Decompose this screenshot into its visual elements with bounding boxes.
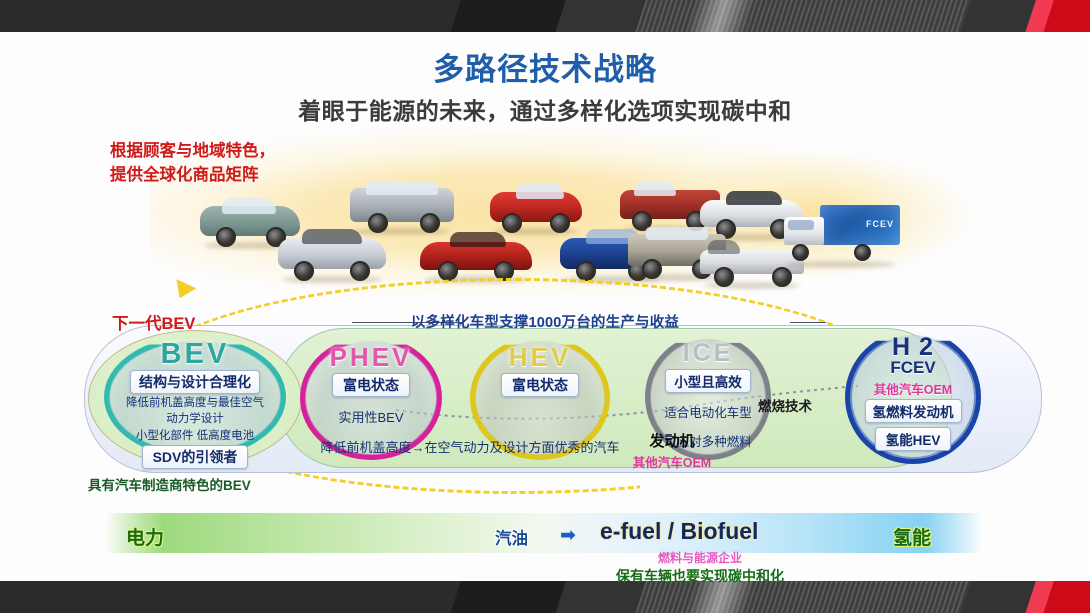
- vehicle-crown-red: [420, 230, 532, 276]
- vehicle-cabin: [450, 232, 506, 247]
- vehicle-shadow: [704, 282, 800, 289]
- energy-spectrum-bar: [104, 513, 984, 553]
- phev-title: PHEV: [330, 344, 413, 370]
- vehicle-cabin: [302, 229, 362, 244]
- vehicle-shadow: [424, 276, 527, 283]
- vehicle-fcev-box-truck: FCEV: [782, 205, 900, 261]
- bev-footnote: 具有汽车制造商特色的BEV: [88, 474, 251, 494]
- banner-band-dark: [0, 581, 480, 613]
- combustion-tech-label: 燃烧技术: [758, 395, 812, 415]
- carbon-neutral-note: 保有车辆也要实现碳中和化: [560, 566, 840, 586]
- next-gen-bev-label: 下一代BEV: [112, 310, 195, 334]
- h2-title: H 2: [892, 335, 934, 360]
- phev-desc-1: 实用性BEV: [338, 410, 403, 426]
- hev-title: HEV: [509, 344, 571, 370]
- bev-desc-3: 小型化部件 低高度电池: [136, 429, 254, 443]
- powertrain-h2-fcev[interactable]: H 2 FCEV 其他汽车OEM 氢燃料发动机 氢能HEV: [845, 330, 981, 464]
- lineup-callout-line1: 根据顾客与地域特色，: [110, 140, 340, 164]
- hev-chip-primary: 富电状态: [501, 373, 579, 397]
- vehicle-shadow: [787, 261, 896, 268]
- h2-chip-primary: 氢燃料发动机: [865, 399, 962, 423]
- page-subtitle: 着眼于能源的未来，通过多样化选项实现碳中和: [0, 92, 1090, 126]
- energy-gasoline-label: 汽油: [495, 525, 528, 549]
- fuel-companies-note: 燃料与能源企业: [570, 549, 830, 566]
- vehicle-wheel: [792, 244, 809, 261]
- page-title: 多路径技术战略: [0, 44, 1090, 89]
- banner-band-hatch: [630, 0, 979, 32]
- phev-hev-span-note: 降低前机盖高度→在空气动力及设计方面优秀的汽车: [300, 437, 640, 456]
- bottom-banner: [0, 581, 1090, 613]
- lineup-callout-line2: 提供全球化商品矩阵: [110, 164, 340, 188]
- vehicle-cabin: [366, 181, 438, 195]
- vehicle-alphard: [350, 180, 454, 228]
- h2-subtitle: FCEV: [890, 358, 935, 378]
- bev-chip-secondary: SDV的引领者: [142, 445, 249, 469]
- h2-oem-note: 其他汽车OEM: [874, 379, 952, 398]
- banner-band-dark: [0, 0, 490, 32]
- truck-badge: FCEV: [866, 219, 894, 229]
- ice-chip-primary: 小型且高效: [665, 369, 751, 393]
- ice-desc-1: 适合电动化车型: [664, 406, 752, 422]
- h2-chip-secondary: 氢能HEV: [875, 427, 952, 451]
- arrow-right-icon: ➡: [560, 524, 576, 547]
- vehicle-yaris-red: [490, 182, 582, 228]
- energy-electricity-label: 电力: [126, 523, 164, 550]
- vehicle-cabin: [222, 198, 276, 214]
- bev-title: BEV: [161, 340, 230, 369]
- bev-chip-primary: 结构与设计合理化: [130, 370, 260, 394]
- ice-title: ICE: [683, 341, 734, 366]
- truck-windshield: [788, 220, 814, 230]
- vehicle-cabin: [708, 240, 740, 254]
- engine-oem-label: 其他汽车OEM: [602, 452, 742, 471]
- top-banner: [0, 0, 1090, 32]
- lineup-callout: 根据顾客与地域特色， 提供全球化商品矩阵: [110, 140, 340, 188]
- vehicle-cabin: [646, 227, 708, 240]
- engine-label: 发动机: [612, 430, 732, 451]
- energy-efuel-label: e-fuel / Biofuel: [600, 518, 758, 545]
- vehicle-wheel: [854, 244, 871, 261]
- vehicle-cabin: [726, 191, 782, 205]
- vehicle-cabin: [516, 183, 564, 199]
- powertrain-bev[interactable]: BEV 结构与设计合理化 降低前机盖高度与最佳空气 动力学设计 小型化部件 低高…: [104, 336, 286, 458]
- bev-desc-1: 降低前机盖高度与最佳空气: [126, 396, 264, 410]
- vehicle-cabin: [634, 182, 676, 196]
- vehicle-bz-suv-silver: [278, 228, 386, 276]
- slide-canvas: 多路径技术战略 着眼于能源的未来，通过多样化选项实现碳中和 根据顾客与地域特色，…: [0, 0, 1090, 613]
- energy-bar-fade-right: [924, 513, 984, 553]
- phev-chip-primary: 富电状态: [332, 373, 410, 397]
- vehicle-shadow: [282, 276, 381, 283]
- bev-desc-2: 动力学设计: [166, 412, 224, 426]
- energy-hydrogen-label: 氢能: [893, 523, 931, 550]
